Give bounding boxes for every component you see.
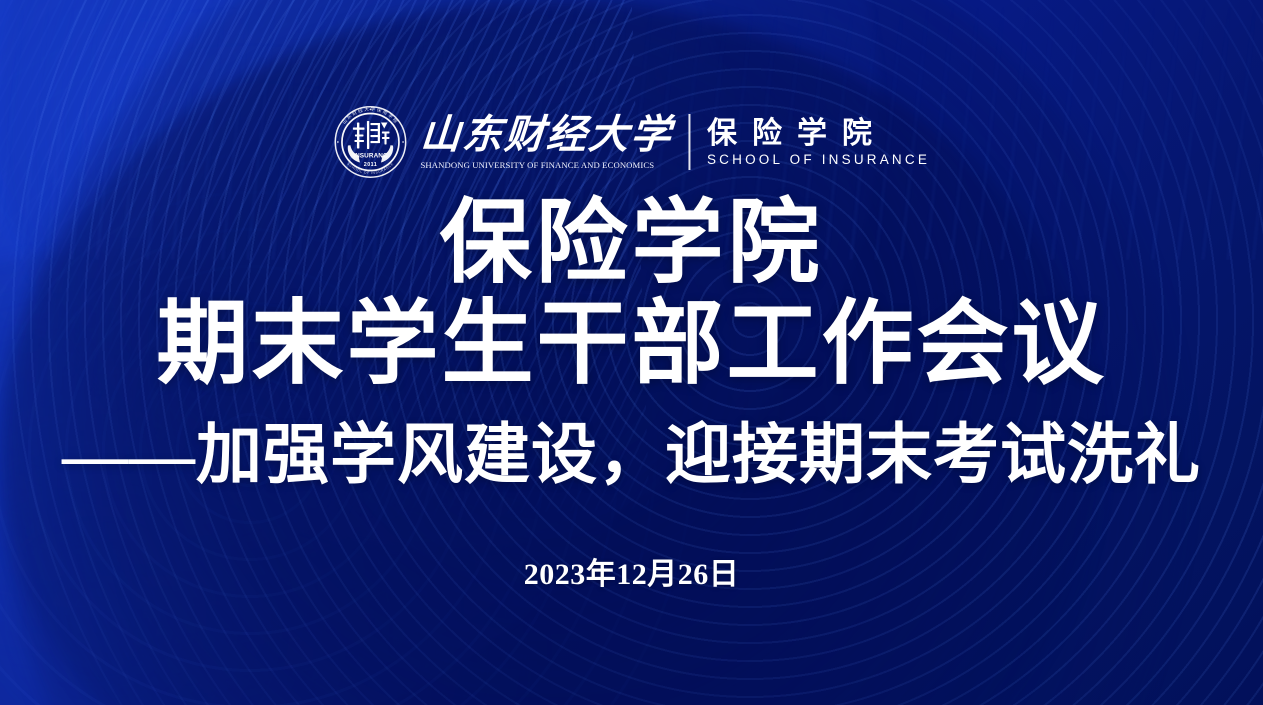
page-title-line-2: 期末学生干部工作会议 [0, 293, 1263, 396]
slide-content: 山东财经大学保险学院 SCHOOL OF INSURANCE [0, 0, 1263, 705]
page-title-line-1: 保险学院 [0, 196, 1263, 291]
school-name-en: SCHOOL OF INSURANCE [707, 153, 930, 167]
presentation-title-slide: 山东财经大学保险学院 SCHOOL OF INSURANCE [0, 0, 1263, 705]
svg-text:2011: 2011 [363, 162, 376, 168]
university-name-cn: 山东财经大学 [419, 114, 674, 156]
slide-date: 2023年12月26日 [0, 557, 1263, 593]
svg-text:INSURANC: INSURANC [353, 153, 388, 160]
school-name-block: 保险学院 SCHOOL OF INSURANCE [690, 106, 930, 178]
logo-lockup: 山东财经大学保险学院 SCHOOL OF INSURANCE [333, 101, 930, 183]
university-name-en: SHANDONG UNIVERSITY OF FINANCE AND ECONO… [420, 161, 677, 170]
title-block: 保险学院 期末学生干部工作会议 ——加强学风建设，迎接期末考试洗礼 [0, 196, 1263, 494]
university-seal-icon: 山东财经大学保险学院 SCHOOL OF INSURANCE [333, 105, 407, 179]
page-subtitle: ——加强学风建设，迎接期末考试洗礼 [0, 418, 1263, 494]
school-name-cn: 保险学院 [707, 118, 930, 150]
university-name-block: 山东财经大学 SHANDONG UNIVERSITY OF FINANCE AN… [420, 106, 688, 178]
